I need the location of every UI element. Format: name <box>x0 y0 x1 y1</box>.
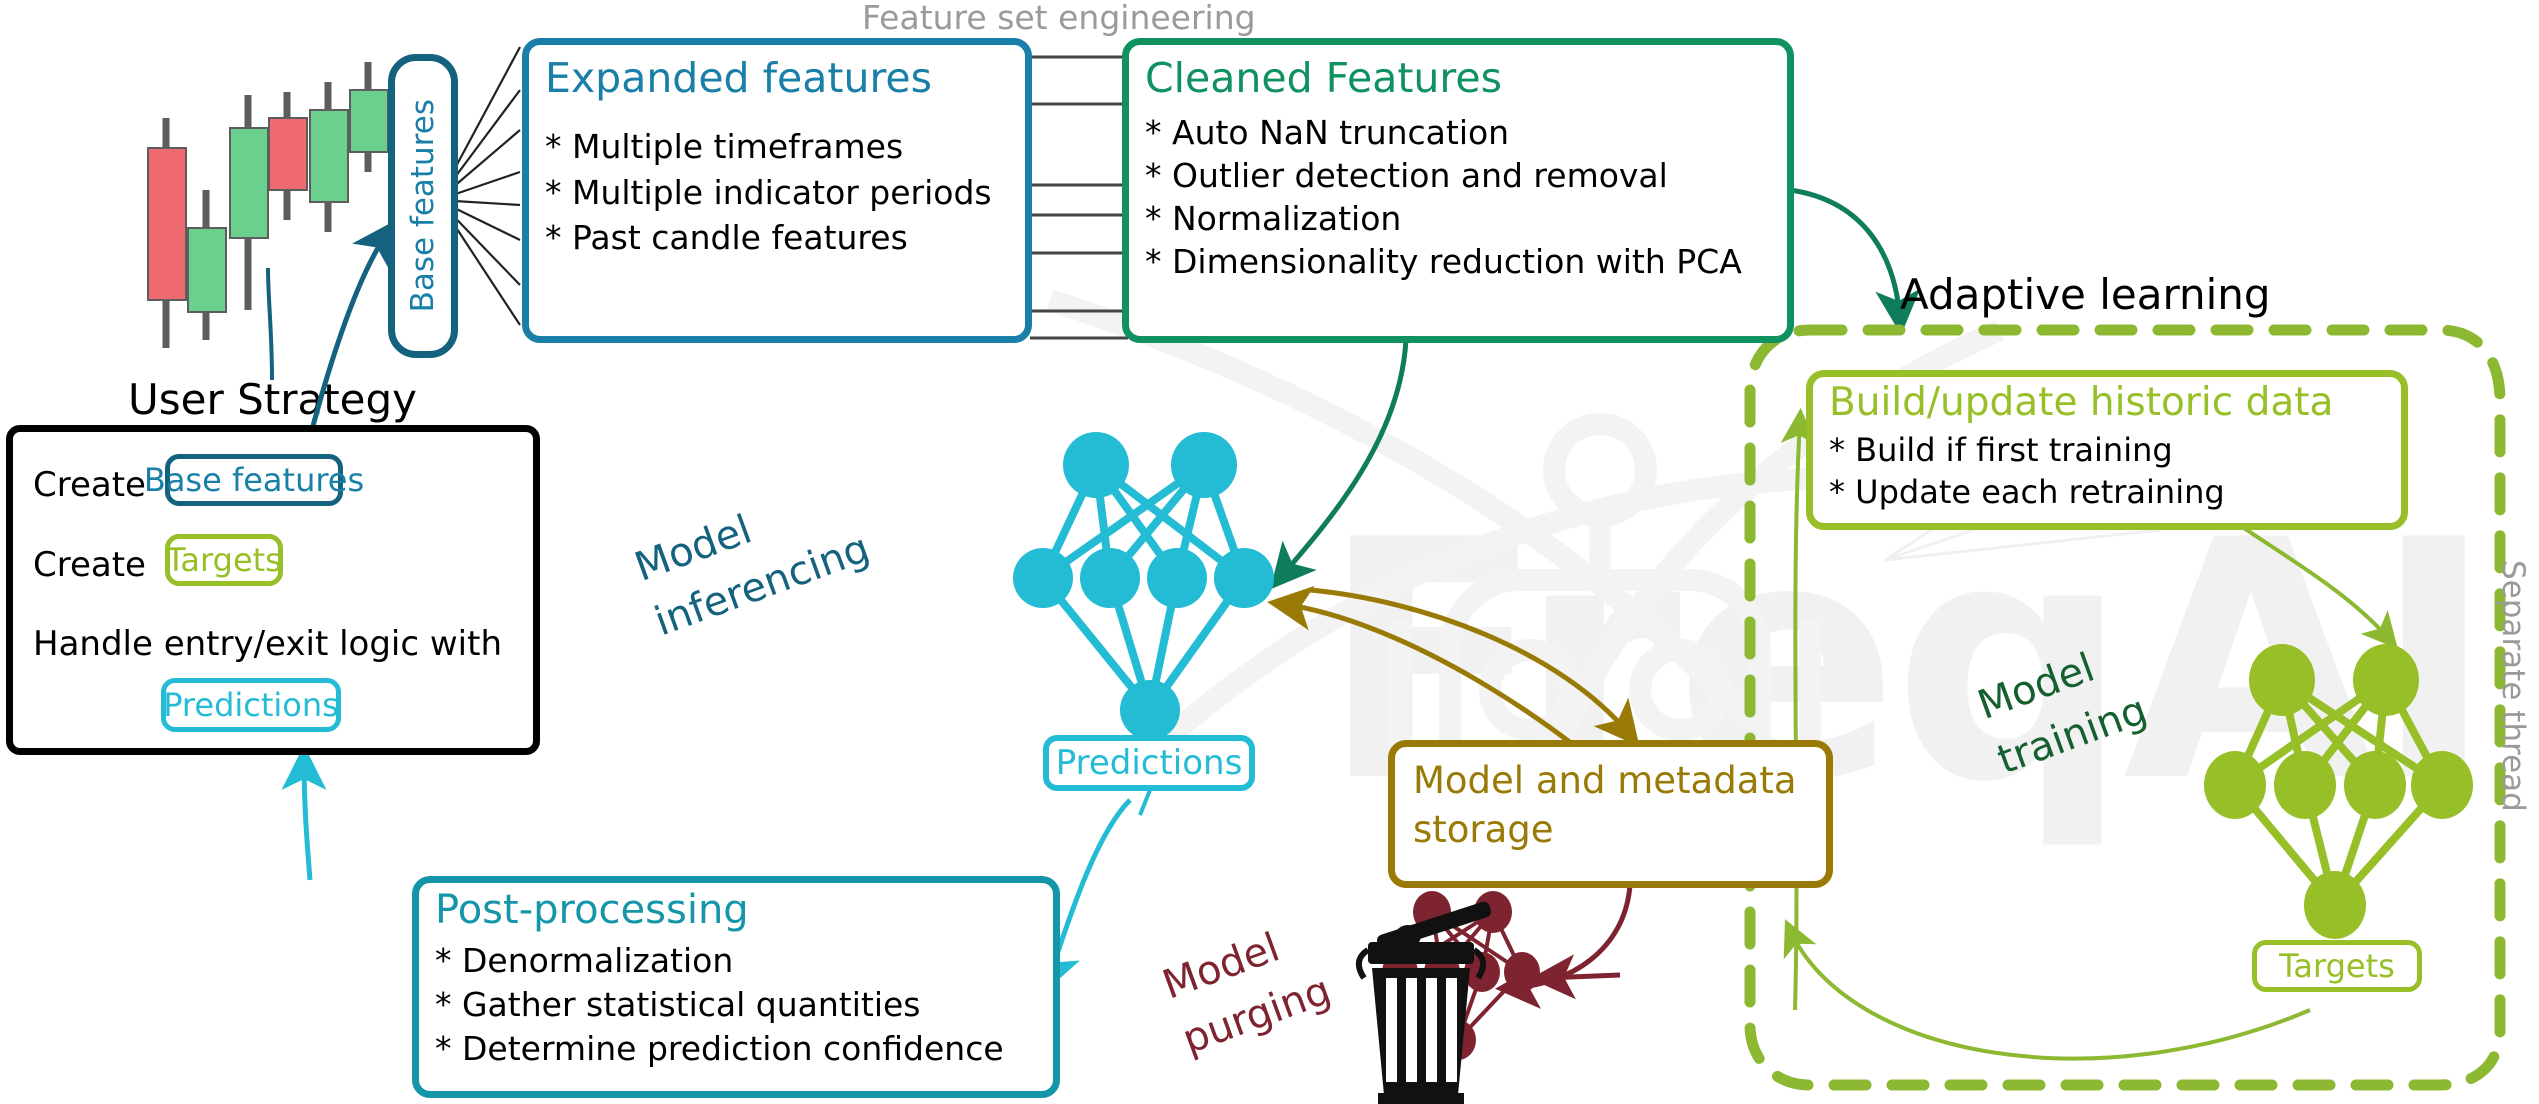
historic-data-box: Build/update historic data * Build if fi… <box>1806 370 2408 530</box>
expanded-features-bullets: * Multiple timeframes * Multiple indicat… <box>545 124 1025 261</box>
post-processing-title: Post-processing <box>435 889 1053 931</box>
model-storage-line2: storage <box>1413 808 1826 851</box>
user-strategy-line3-prefix: Handle entry/exit logic with <box>33 624 502 664</box>
expanded-features-box: Expanded features * Multiple timeframes … <box>522 38 1032 343</box>
cleaned-features-bullets: * Auto NaN truncation * Outlier detectio… <box>1145 112 1787 284</box>
list-item: * Normalization <box>1145 198 1787 241</box>
user-strategy-line2-prefix: Create <box>33 545 146 585</box>
base-features-inline-pill: Base features <box>165 454 343 506</box>
list-item: * Denormalization <box>435 939 1053 983</box>
adaptive-learning-label: Adaptive learning <box>1900 270 2271 319</box>
predictions-inline-pill: Predictions <box>161 678 341 732</box>
predictions-pill: Predictions <box>1043 735 1255 791</box>
list-item: * Past candle features <box>545 215 1025 261</box>
targets-inline-pill: Targets <box>165 534 283 586</box>
separate-thread-label: Separate thread <box>2495 560 2531 812</box>
list-item: * Build if first training <box>1829 430 2401 472</box>
user-strategy-box: Create Base features Create Targets Hand… <box>6 425 540 755</box>
model-storage-line1: Model and metadata <box>1413 759 1826 802</box>
targets-pill: Targets <box>2252 940 2422 992</box>
user-strategy-line1-prefix: Create <box>33 465 146 505</box>
expanded-features-title: Expanded features <box>545 57 1025 100</box>
diagram-canvas: FreqAI <box>0 0 2539 1104</box>
list-item: * Gather statistical quantities <box>435 983 1053 1027</box>
base-features-pill-label: Base features <box>405 99 441 312</box>
list-item: * Dimensionality reduction with PCA <box>1145 241 1787 284</box>
post-processing-bullets: * Denormalization * Gather statistical q… <box>435 939 1053 1071</box>
model-storage-box: Model and metadata storage <box>1388 740 1833 888</box>
list-item: * Multiple timeframes <box>545 124 1025 170</box>
list-item: * Outlier detection and removal <box>1145 155 1787 198</box>
post-processing-box: Post-processing * Denormalization * Gath… <box>412 876 1060 1098</box>
list-item: * Auto NaN truncation <box>1145 112 1787 155</box>
list-item: * Multiple indicator periods <box>545 170 1025 216</box>
list-item: * Update each retraining <box>1829 472 2401 514</box>
list-item: * Determine prediction confidence <box>435 1027 1053 1071</box>
cleaned-features-box: Cleaned Features * Auto NaN truncation *… <box>1122 38 1794 343</box>
historic-data-bullets: * Build if first training * Update each … <box>1829 430 2401 513</box>
historic-data-title: Build/update historic data <box>1829 383 2401 424</box>
base-features-pill: Base features <box>388 54 458 358</box>
cleaned-features-title: Cleaned Features <box>1145 57 1787 100</box>
